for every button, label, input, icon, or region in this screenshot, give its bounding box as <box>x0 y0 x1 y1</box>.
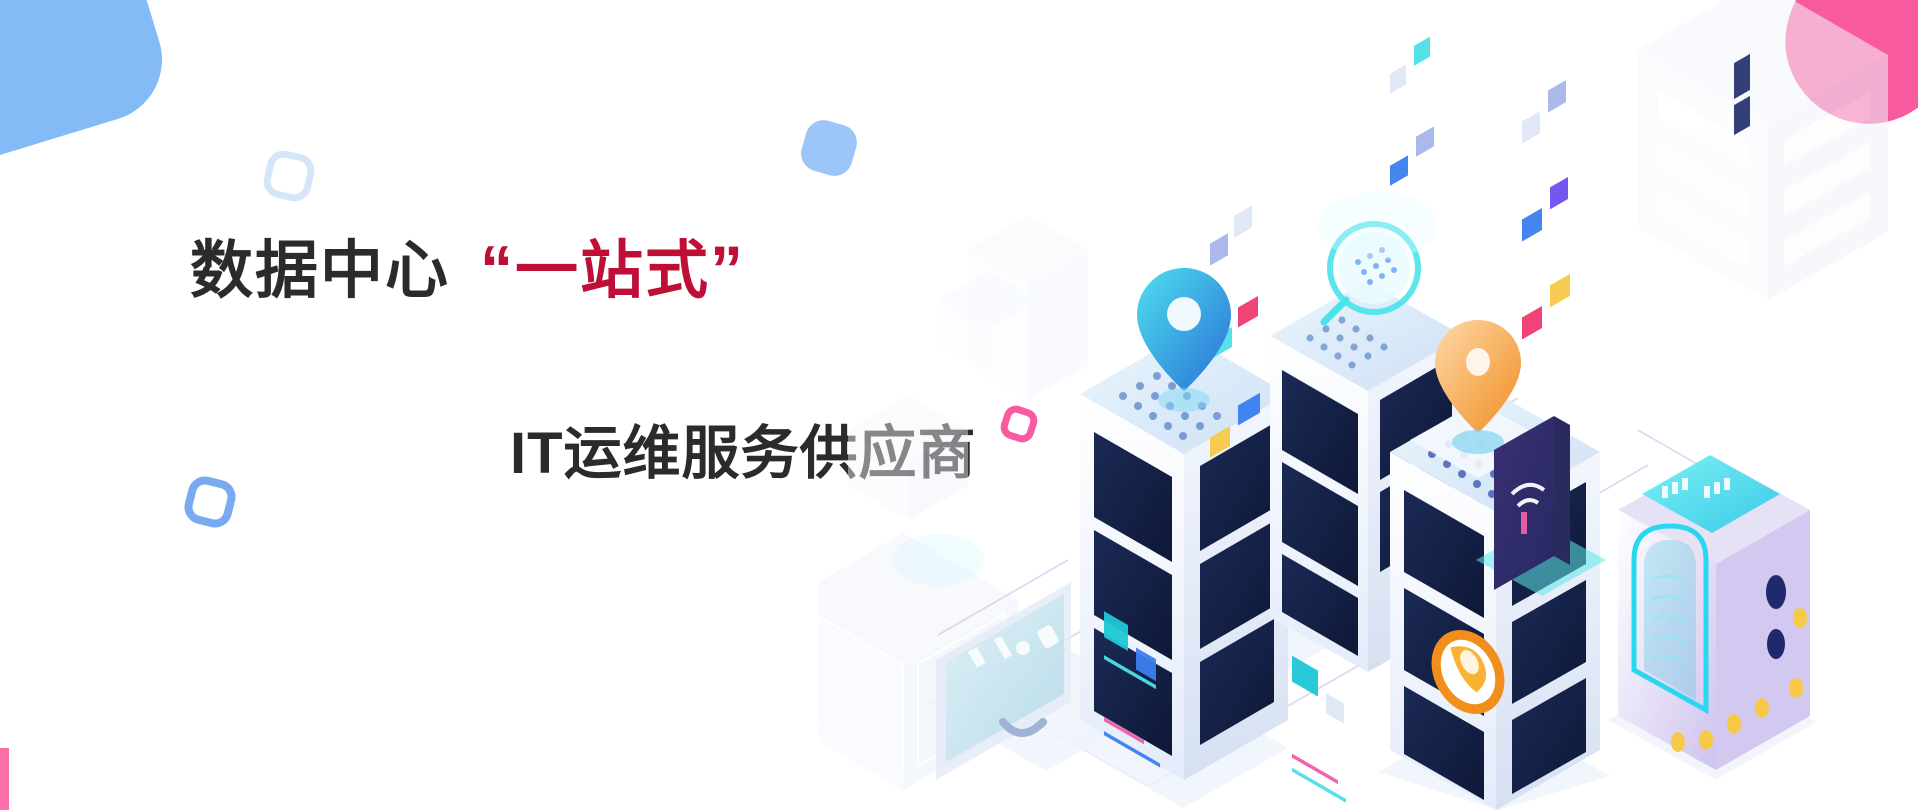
rounded-square-outline-pale-blue-icon <box>261 148 318 205</box>
magnifier-badge-icon <box>1324 224 1418 322</box>
server-rack-right-icon <box>1378 80 1610 810</box>
spiral-coin-orange-icon <box>1417 617 1518 727</box>
server-rack-middle-icon <box>1270 37 1464 810</box>
headline-prefix: 数据中心 <box>190 235 450 307</box>
monitor-left-icon <box>926 582 1163 780</box>
quote-close-glyph: ” <box>710 232 745 308</box>
map-pin-blue-icon <box>1137 268 1231 412</box>
hero-banner: 数据中心 “ 一站式 ” IT运维服务供应商 <box>0 0 1918 810</box>
headline-line-2: IT运维服务供应商 <box>510 406 1090 490</box>
bar-bottom-left-decor <box>0 748 9 810</box>
tablet-wifi-icon <box>1476 416 1606 596</box>
headline-line-1: 数据中心 “ 一站式 ” <box>190 232 1090 308</box>
server-kiosk-icon <box>1608 54 1816 780</box>
blob-top-left-decor <box>0 0 177 177</box>
monitor-right-icon <box>1158 512 1340 692</box>
server-rack-front-icon <box>1068 205 1288 810</box>
blob-top-right-decor <box>1770 0 1918 140</box>
rounded-square-filled-blue-icon <box>797 116 861 180</box>
headline-highlight: 一站式 <box>515 235 710 307</box>
quote-open-glyph: “ <box>480 232 515 308</box>
headline-block: 数据中心 “ 一站式 ” IT运维服务供应商 <box>190 232 1090 490</box>
ghost-cube-icon <box>818 533 1018 790</box>
map-pin-orange-icon <box>1410 320 1546 478</box>
